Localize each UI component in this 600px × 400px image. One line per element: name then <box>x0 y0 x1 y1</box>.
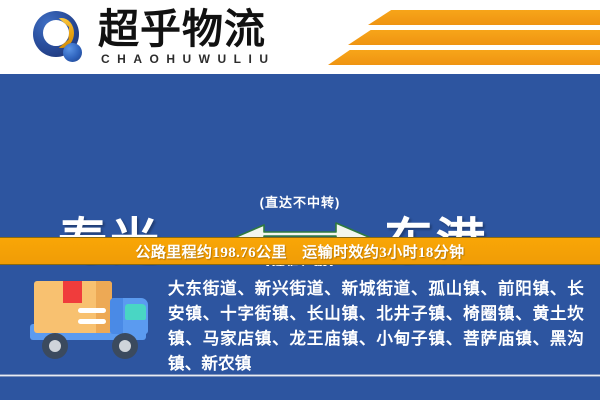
speed-stripe-1 <box>368 10 600 25</box>
logistics-route-banner: 超乎物流 CHAOHUWULIU 寿光 东港 (直达不中转) 【往返运输】 公路… <box>0 0 600 400</box>
banner-header: 超乎物流 CHAOHUWULIU <box>0 0 600 74</box>
logo-dot-shape <box>63 43 82 62</box>
route-section: 寿光 东港 (直达不中转) 【往返运输】 <box>0 74 600 237</box>
speed-stripe-2 <box>348 30 600 45</box>
coverage-areas-text: 大东街道、新兴街道、新城街道、孤山镇、前阳镇、长安镇、十字街镇、长山镇、北井子镇… <box>168 276 584 376</box>
truck-wheel-hub-front <box>119 340 131 352</box>
brand-name-cn: 超乎物流 <box>98 7 266 51</box>
truck-label-line-1 <box>78 308 106 313</box>
brand-name-en: CHAOHUWULIU <box>101 52 276 66</box>
distance-duration-text: 公路里程约198.76公里 运输时效约3小时18分钟 <box>135 241 464 262</box>
delivery-truck-icon <box>24 276 154 362</box>
speed-stripes-decoration <box>330 0 600 74</box>
truck-package-tape <box>63 281 82 303</box>
coverage-section: 大东街道、新兴街道、新城街道、孤山镇、前阳镇、长安镇、十字街镇、长山镇、北井子镇… <box>0 266 600 374</box>
truck-wheel-rear <box>42 333 68 359</box>
truck-window <box>125 304 146 320</box>
company-logo-icon <box>33 11 87 65</box>
logo-crescent-cutout <box>43 20 69 46</box>
truck-wheel-hub-rear <box>49 340 61 352</box>
truck-wheel-front <box>112 333 138 359</box>
truck-cab-shadow <box>110 298 123 334</box>
truck-label-line-2 <box>78 319 106 324</box>
speed-stripe-3 <box>328 50 600 65</box>
banner-footer <box>0 377 600 400</box>
direct-service-note: (直达不中转) <box>205 192 395 211</box>
distance-duration-bar: 公路里程约198.76公里 运输时效约3小时18分钟 <box>0 237 600 265</box>
